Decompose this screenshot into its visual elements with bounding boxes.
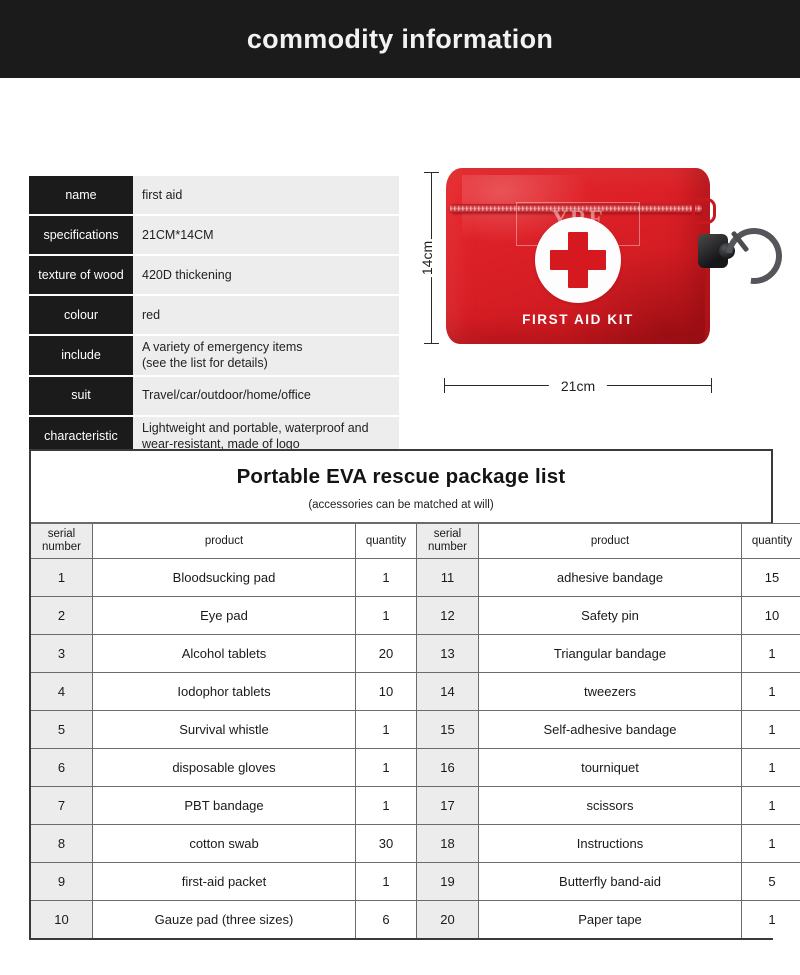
width-dimension-label: 21cm [549, 378, 607, 394]
cell-serial: 16 [417, 749, 479, 787]
specification-table: name first aid specifications 21CM*14CM … [29, 174, 399, 457]
spec-value-colour: red [133, 296, 399, 334]
specification-table-body: name first aid specifications 21CM*14CM … [29, 176, 399, 455]
spec-value-include-line2: (see the list for details) [142, 355, 399, 371]
header-product-right: product [479, 524, 742, 559]
cell-serial: 1 [31, 559, 93, 597]
cell-serial: 10 [31, 901, 93, 939]
cell-quantity: 10 [356, 673, 417, 711]
carabiner-clip-icon [698, 226, 772, 276]
cell-quantity: 1 [356, 787, 417, 825]
package-list-header: Portable EVA rescue package list (access… [31, 451, 771, 523]
clip-swivel [698, 234, 728, 268]
table-row: 9 first-aid packet 1 19 Butterfly band-a… [31, 863, 800, 901]
cell-serial: 9 [31, 863, 93, 901]
cell-quantity: 1 [356, 749, 417, 787]
cell-serial: 8 [31, 825, 93, 863]
cell-product: tourniquet [479, 749, 742, 787]
table-row: 8 cotton swab 30 18 Instructions 1 [31, 825, 800, 863]
spec-row: include A variety of emergency items (se… [29, 336, 399, 375]
spec-row: suit Travel/car/outdoor/home/office [29, 377, 399, 415]
cell-serial: 19 [417, 863, 479, 901]
package-list-subtitle: (accessories can be matched at will) [31, 499, 771, 511]
cell-product: scissors [479, 787, 742, 825]
table-row: 2 Eye pad 1 12 Safety pin 10 [31, 597, 800, 635]
table-row: 4 Iodophor tablets 10 14 tweezers 1 [31, 673, 800, 711]
cell-quantity: 1 [356, 711, 417, 749]
spec-row: texture of wood 420D thickening [29, 256, 399, 294]
cell-product: Alcohol tablets [93, 635, 356, 673]
cell-product: Triangular bandage [479, 635, 742, 673]
spec-label-name: name [29, 176, 133, 214]
cell-product: first-aid packet [93, 863, 356, 901]
bag-body: YRF www.yrftextile.com FIRST AID KIT [446, 168, 710, 344]
cell-serial: 11 [417, 559, 479, 597]
cell-quantity: 20 [356, 635, 417, 673]
cell-quantity: 1 [742, 787, 800, 825]
header-serial-line2: number [428, 541, 467, 553]
table-row: 1 Bloodsucking pad 1 11 adhesive bandage… [31, 559, 800, 597]
first-aid-bag-image: YRF www.yrftextile.com FIRST AID KIT [446, 168, 710, 344]
package-items-table: serial number product quantity serial nu… [31, 523, 800, 938]
spec-row: specifications 21CM*14CM [29, 216, 399, 254]
spec-value-suit: Travel/car/outdoor/home/office [133, 377, 399, 415]
cell-product: Survival whistle [93, 711, 356, 749]
medical-cross-icon [535, 217, 621, 303]
dimension-cap-bottom [424, 343, 439, 344]
spec-label-suit: suit [29, 377, 133, 415]
cell-serial: 12 [417, 597, 479, 635]
cell-product: Bloodsucking pad [93, 559, 356, 597]
table-row: 5 Survival whistle 1 15 Self-adhesive ba… [31, 711, 800, 749]
cell-quantity: 1 [356, 597, 417, 635]
table-row: 10 Gauze pad (three sizes) 6 20 Paper ta… [31, 901, 800, 939]
bag-caption-text: FIRST AID KIT [446, 312, 710, 327]
header-serial-number-right: serial number [417, 524, 479, 559]
cell-quantity: 1 [742, 901, 800, 939]
package-items-tbody: 1 Bloodsucking pad 1 11 adhesive bandage… [31, 559, 800, 939]
product-overview-section: name first aid specifications 21CM*14CM … [0, 78, 800, 438]
cell-serial: 14 [417, 673, 479, 711]
cell-quantity: 1 [742, 749, 800, 787]
header-serial-line1: serial [48, 528, 75, 540]
cell-serial: 17 [417, 787, 479, 825]
width-dimension-line: 21cm [444, 376, 712, 396]
package-list-table: Portable EVA rescue package list (access… [29, 449, 773, 940]
package-items-thead: serial number product quantity serial nu… [31, 524, 800, 559]
header-serial-line1: serial [434, 528, 461, 540]
cell-product: PBT bandage [93, 787, 356, 825]
clip-hook [715, 217, 794, 296]
zipper-teeth [450, 206, 702, 211]
spec-row: name first aid [29, 176, 399, 214]
dimension-cap-right [711, 378, 712, 393]
cell-quantity: 1 [356, 559, 417, 597]
zipper-icon [450, 204, 702, 213]
cell-product: adhesive bandage [479, 559, 742, 597]
cell-serial: 2 [31, 597, 93, 635]
spec-value-name: first aid [133, 176, 399, 214]
spec-label-include: include [29, 336, 133, 375]
height-dimension-line: 14cm [422, 172, 440, 344]
height-dimension-label: 14cm [416, 239, 438, 277]
cell-product: disposable gloves [93, 749, 356, 787]
cell-quantity: 1 [742, 711, 800, 749]
header-product-left: product [93, 524, 356, 559]
header-serial-line2: number [42, 541, 81, 553]
header-quantity-right: quantity [742, 524, 800, 559]
cell-product: Safety pin [479, 597, 742, 635]
cell-serial: 13 [417, 635, 479, 673]
cell-quantity: 30 [356, 825, 417, 863]
cell-quantity: 5 [742, 863, 800, 901]
cell-quantity: 10 [742, 597, 800, 635]
cell-quantity: 15 [742, 559, 800, 597]
header-serial-number-left: serial number [31, 524, 93, 559]
cell-serial: 20 [417, 901, 479, 939]
cell-serial: 3 [31, 635, 93, 673]
cell-product: Self-adhesive bandage [479, 711, 742, 749]
cell-product: Iodophor tablets [93, 673, 356, 711]
table-row: 3 Alcohol tablets 20 13 Triangular banda… [31, 635, 800, 673]
cell-product: Instructions [479, 825, 742, 863]
cell-product: cotton swab [93, 825, 356, 863]
page-header-banner: commodity information [0, 0, 800, 78]
cell-quantity: 1 [742, 673, 800, 711]
cell-product: Butterfly band-aid [479, 863, 742, 901]
cell-product: Eye pad [93, 597, 356, 635]
cell-quantity: 1 [742, 825, 800, 863]
table-row: 7 PBT bandage 1 17 scissors 1 [31, 787, 800, 825]
cell-product: Paper tape [479, 901, 742, 939]
cell-serial: 15 [417, 711, 479, 749]
cell-quantity: 1 [356, 863, 417, 901]
zipper-pull-icon [692, 198, 716, 224]
cell-quantity: 6 [356, 901, 417, 939]
cell-product: tweezers [479, 673, 742, 711]
cell-serial: 6 [31, 749, 93, 787]
cell-serial: 7 [31, 787, 93, 825]
spec-value-include-line1: A variety of emergency items [142, 339, 399, 355]
product-photo-area: 14cm YRF www.yrftextile.com FIRST AID KI… [406, 158, 786, 418]
spec-row: colour red [29, 296, 399, 334]
spec-value-specifications: 21CM*14CM [133, 216, 399, 254]
table-row: 6 disposable gloves 1 16 tourniquet 1 [31, 749, 800, 787]
package-list-title: Portable EVA rescue package list [31, 465, 771, 489]
cross-horizontal-bar [550, 250, 606, 270]
cell-quantity: 1 [742, 635, 800, 673]
cell-product: Gauze pad (three sizes) [93, 901, 356, 939]
spec-value-include: A variety of emergency items (see the li… [133, 336, 399, 375]
table-header-row: serial number product quantity serial nu… [31, 524, 800, 559]
spec-value-texture: 420D thickening [133, 256, 399, 294]
spec-label-colour: colour [29, 296, 133, 334]
cell-serial: 4 [31, 673, 93, 711]
cell-serial: 5 [31, 711, 93, 749]
cell-serial: 18 [417, 825, 479, 863]
spec-label-texture: texture of wood [29, 256, 133, 294]
header-quantity-left: quantity [356, 524, 417, 559]
page-title: commodity information [247, 24, 553, 55]
spec-value-characteristic-line1: Lightweight and portable, waterproof and [142, 420, 399, 436]
spec-label-specifications: specifications [29, 216, 133, 254]
